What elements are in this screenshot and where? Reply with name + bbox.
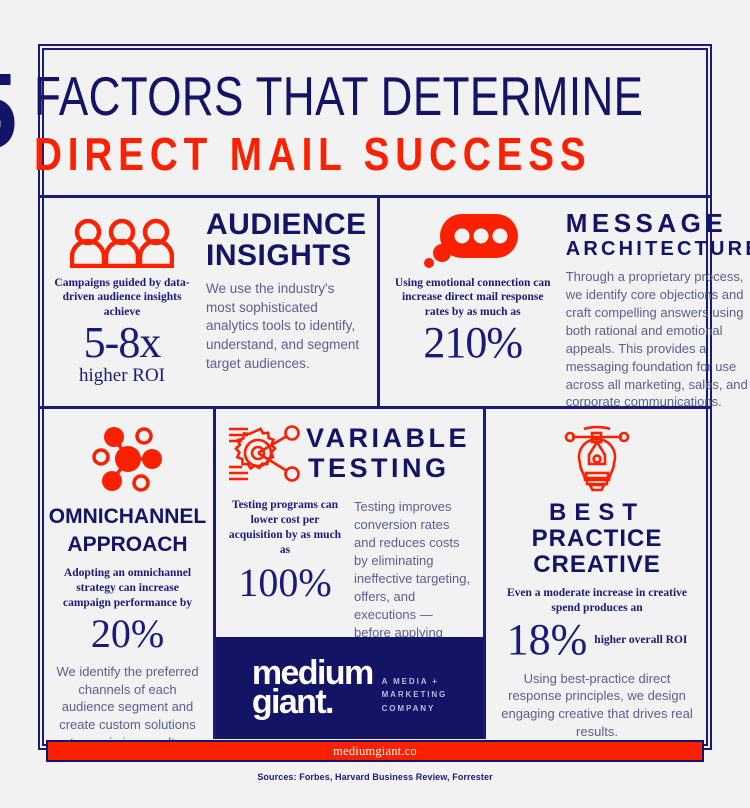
message-title-line-2: ARCHITECTURE [566,239,750,259]
best-practice-body: Using best-practice direct response prin… [498,670,696,741]
top-row: Campaigns guided by data-driven audience… [42,198,708,406]
audience-body: We use the industry's most sophisticated… [206,280,367,373]
infographic-page: 5 FACTORS THAT DETERMINE DIRECT MAIL SUC… [0,0,750,808]
speech-bubble-icon [424,210,522,268]
logo-word-2: giant. [252,688,373,717]
panel-variable-testing: VARIABLE TESTING Testing programs can lo… [216,409,486,739]
lightbulb-pen-icon [562,423,632,500]
headline-number: 5 [0,67,16,156]
header-banner: 5 FACTORS THAT DETERMINE DIRECT MAIL SUC… [42,48,708,195]
message-body: Through a proprietary process, we identi… [566,268,750,412]
best-practice-title-line-3: CREATIVE [532,552,663,578]
headline-lines: FACTORS THAT DETERMINE DIRECT MAIL SUCCE… [34,69,750,178]
variable-testing-header: VARIABLE TESTING [226,421,473,490]
audience-stat-column: Campaigns guided by data-driven audience… [52,210,192,400]
website-url-text: mediumgiant.co [333,744,417,759]
omnichannel-title-line-1: OMNICHANNEL [49,506,207,528]
audience-title-line-2: INSIGHTS [206,241,367,272]
message-stat-column: Using emotional connection can increase … [394,210,552,400]
gear-target-icon [226,421,300,490]
network-nodes-icon [86,423,170,500]
website-url-bar[interactable]: mediumgiant.co [46,740,704,762]
omnichannel-title-line-2: APPROACH [67,534,187,556]
omnichannel-body: We identify the preferred channels of ea… [52,663,203,751]
variable-testing-title-line-1: VARIABLE [306,423,470,453]
variable-testing-stat-number: 100% [226,562,344,604]
variable-testing-title-line-2: TESTING [308,453,470,483]
variable-testing-content: VARIABLE TESTING Testing programs can lo… [216,409,483,637]
best-practice-stat-number: 18% [507,618,588,662]
message-title-column: MESSAGE ARCHITECTURE Through a proprieta… [552,210,750,400]
best-practice-title-line-2: PRACTICE [532,526,663,552]
three-people-icon [70,210,174,268]
best-practice-stat-row: 18% higher overall ROI [507,618,688,662]
sources-note: Sources: Forbes, Harvard Business Review… [0,772,750,782]
header-content: 5 FACTORS THAT DETERMINE DIRECT MAIL SUC… [0,65,750,178]
logo-row: medium giant. A MEDIA + MARKETING COMPAN… [252,659,447,717]
logo-wordmark: medium giant. [252,659,373,717]
logo-tagline-line-2: MARKETING [382,688,448,702]
logo-tagline-line-1: A MEDIA + [382,675,448,689]
audience-stat-number: 5-8x [84,321,161,365]
audience-stat-lead: Campaigns guided by data-driven audience… [52,276,192,319]
variable-testing-stat-lead: Testing programs can lower cost per acqu… [226,498,344,558]
panel-audience-insights: Campaigns guided by data-driven audience… [42,198,380,406]
bottom-row: OMNICHANNEL APPROACH Adopting an omnicha… [42,409,708,739]
variable-testing-title: VARIABLE TESTING [306,423,470,483]
best-practice-stat-lead: Even a moderate increase in creative spe… [498,586,696,616]
audience-title-column: AUDIENCE INSIGHTS We use the industry's … [192,210,367,400]
logo-tagline-line-3: COMPANY [382,702,448,716]
medium-giant-logo-block: medium giant. A MEDIA + MARKETING COMPAN… [216,637,483,739]
headline-line-1: FACTORS THAT DETERMINE [34,69,643,124]
omnichannel-stat-number: 20% [91,613,164,655]
audience-title-line-1: AUDIENCE [206,210,367,241]
omnichannel-stat-lead: Adopting an omnichannel strategy can inc… [52,566,203,611]
best-practice-title-line-1: BEST [532,500,663,526]
message-stat-lead: Using emotional connection can increase … [394,276,552,319]
message-title-line-1: MESSAGE [566,210,750,237]
panel-best-practice-creative: BEST PRACTICE CREATIVE Even a moderate i… [486,409,708,739]
panel-omnichannel-approach: OMNICHANNEL APPROACH Adopting an omnicha… [42,409,216,739]
logo-tagline: A MEDIA + MARKETING COMPANY [382,675,448,716]
audience-stat-sub: higher ROI [79,366,165,387]
panel-message-architecture: Using emotional connection can increase … [380,198,750,406]
headline-line-2: DIRECT MAIL SUCCESS [34,130,674,178]
best-practice-title: BEST PRACTICE CREATIVE [532,500,663,578]
message-stat-number: 210% [423,321,522,365]
best-practice-stat-sub: higher overall ROI [594,633,687,647]
